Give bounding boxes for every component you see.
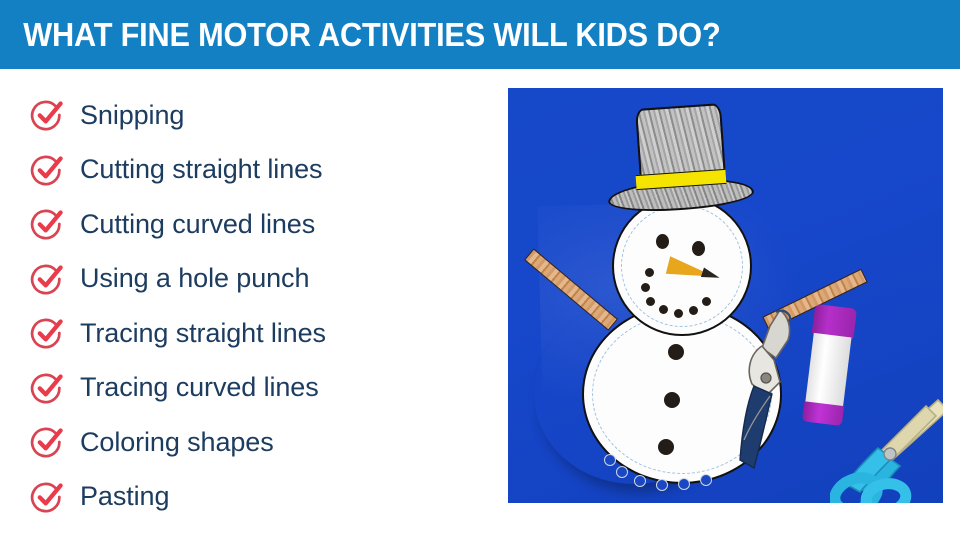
mouth-dot [674, 309, 683, 318]
header-bar: WHAT FINE MOTOR ACTIVITIES WILL KIDS DO? [0, 0, 960, 69]
list-item: Tracing curved lines [30, 361, 500, 416]
slide-canvas: WHAT FINE MOTOR ACTIVITIES WILL KIDS DO?… [0, 0, 960, 540]
activity-label: Using a hole punch [80, 263, 309, 294]
snowman-cutout [560, 96, 860, 486]
activity-label: Tracing curved lines [80, 372, 319, 403]
snowman-head [612, 196, 752, 336]
check-circle-icon [30, 98, 64, 132]
punched-hole [616, 466, 628, 478]
check-circle-icon [30, 371, 64, 405]
activity-label: Pasting [80, 481, 169, 512]
coal-button [664, 392, 680, 408]
check-circle-icon [30, 207, 64, 241]
hole-punch-icon [736, 300, 802, 470]
check-circle-icon [30, 153, 64, 187]
check-circle-icon [30, 316, 64, 350]
glue-body [805, 333, 851, 407]
punched-hole [656, 479, 668, 491]
scissors-icon [830, 398, 943, 503]
mouth-dot [645, 268, 654, 277]
eye-icon [656, 234, 669, 249]
activity-label: Coloring shapes [80, 427, 274, 458]
activity-label: Tracing straight lines [80, 318, 326, 349]
mouth-dot [659, 305, 668, 314]
list-item: Tracing straight lines [30, 306, 500, 361]
list-item: Pasting [30, 470, 500, 525]
mouth-dot [689, 306, 698, 315]
eye-icon [692, 241, 705, 256]
check-circle-icon [30, 425, 64, 459]
list-item: Coloring shapes [30, 415, 500, 470]
coal-button [668, 344, 684, 360]
page-title: WHAT FINE MOTOR ACTIVITIES WILL KIDS DO? [0, 16, 721, 54]
punched-hole [700, 474, 712, 486]
list-item: Using a hole punch [30, 252, 500, 307]
punched-hole [678, 478, 690, 490]
list-item: Cutting curved lines [30, 197, 500, 252]
activity-list: Snipping Cutting straight lines Cutting … [30, 88, 500, 524]
punched-hole [604, 454, 616, 466]
punched-hole [634, 475, 646, 487]
mouth-dot [641, 283, 650, 292]
check-circle-icon [30, 262, 64, 296]
activity-label: Snipping [80, 100, 184, 131]
coal-button [658, 439, 674, 455]
mouth-dot [702, 297, 711, 306]
check-circle-icon [30, 480, 64, 514]
craft-photo [508, 88, 943, 503]
activity-label: Cutting straight lines [80, 154, 322, 185]
activity-label: Cutting curved lines [80, 209, 315, 240]
mouth-dot [646, 297, 655, 306]
list-item: Snipping [30, 88, 500, 143]
list-item: Cutting straight lines [30, 143, 500, 198]
